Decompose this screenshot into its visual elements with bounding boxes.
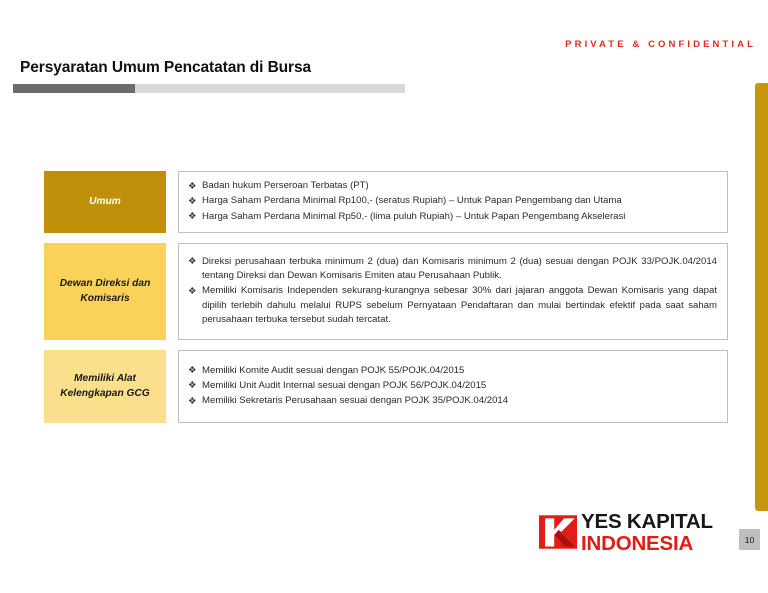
logo-wordmark: YES KAPITAL INDONESIA xyxy=(581,512,713,554)
table-row: Dewan Direksi dan Komisaris ❖ Direksi pe… xyxy=(44,243,728,340)
bullet-list: ❖ Memiliki Komite Audit sesuai dengan PO… xyxy=(188,364,717,409)
list-item-text: Memiliki Komite Audit sesuai dengan POJK… xyxy=(202,365,464,376)
table-row: Memiliki Alat Kelengkapan GCG ❖ Memiliki… xyxy=(44,350,728,423)
row-body-memiliki-alat-kelengkapan-gcg: ❖ Memiliki Komite Audit sesuai dengan PO… xyxy=(178,350,728,423)
row-body-dewan-direksi-dan-komisaris: ❖ Direksi perusahaan terbuka minimum 2 (… xyxy=(178,243,728,340)
diamond-bullet-icon: ❖ xyxy=(188,284,196,298)
diamond-bullet-icon: ❖ xyxy=(188,394,196,408)
list-item: ❖ Memiliki Komite Audit sesuai dengan PO… xyxy=(188,364,717,379)
page-title: Persyaratan Umum Pencatatan di Bursa xyxy=(20,59,311,77)
row-label-dewan-direksi-dan-komisaris: Dewan Direksi dan Komisaris xyxy=(44,243,166,340)
diamond-bullet-icon: ❖ xyxy=(188,378,196,392)
page-number: 10 xyxy=(739,529,760,550)
diamond-bullet-icon: ❖ xyxy=(188,194,196,208)
logo-line-1: YES KAPITAL xyxy=(581,512,713,533)
yes-kapital-k-mark-icon xyxy=(539,513,577,551)
list-item: ❖ Badan hukum Perseroan Terbatas (PT) xyxy=(188,179,717,194)
list-item: ❖ Memiliki Komisaris Independen sekurang… xyxy=(188,284,717,328)
list-item: ❖ Harga Saham Perdana Minimal Rp50,- (li… xyxy=(188,210,717,225)
requirements-table: Umum ❖ Badan hukum Perseroan Terbatas (P… xyxy=(44,171,728,433)
company-logo: YES KAPITAL INDONESIA xyxy=(539,511,714,553)
list-item-text: Memiliki Unit Audit Internal sesuai deng… xyxy=(202,380,486,391)
list-item-text: Memiliki Sekretaris Perusahaan sesuai de… xyxy=(202,395,508,406)
title-progress-fill xyxy=(13,84,135,93)
bullet-list: ❖ Direksi perusahaan terbuka minimum 2 (… xyxy=(188,255,717,329)
list-item-text: Direksi perusahaan terbuka minimum 2 (du… xyxy=(202,256,717,282)
bullet-list: ❖ Badan hukum Perseroan Terbatas (PT) ❖ … xyxy=(188,179,717,224)
list-item-text: Harga Saham Perdana Minimal Rp50,- (lima… xyxy=(202,211,625,222)
list-item-text: Memiliki Komisaris Independen sekurang-k… xyxy=(202,285,717,325)
list-item: ❖ Memiliki Sekretaris Perusahaan sesuai … xyxy=(188,394,717,409)
list-item: ❖ Harga Saham Perdana Minimal Rp100,- (s… xyxy=(188,194,717,209)
diamond-bullet-icon: ❖ xyxy=(188,363,196,377)
diamond-bullet-icon: ❖ xyxy=(188,179,196,193)
list-item: ❖ Memiliki Unit Audit Internal sesuai de… xyxy=(188,379,717,394)
list-item-text: Harga Saham Perdana Minimal Rp100,- (ser… xyxy=(202,195,622,206)
logo-line-2: INDONESIA xyxy=(581,534,713,555)
right-accent-bar xyxy=(755,83,768,511)
diamond-bullet-icon: ❖ xyxy=(188,209,196,223)
title-progress-track xyxy=(13,84,405,93)
row-body-umum: ❖ Badan hukum Perseroan Terbatas (PT) ❖ … xyxy=(178,171,728,233)
list-item: ❖ Direksi perusahaan terbuka minimum 2 (… xyxy=(188,255,717,284)
confidential-notice: PRIVATE & CONFIDENTIAL xyxy=(565,39,756,50)
list-item-text: Badan hukum Perseroan Terbatas (PT) xyxy=(202,180,369,191)
row-label-memiliki-alat-kelengkapan-gcg: Memiliki Alat Kelengkapan GCG xyxy=(44,350,166,423)
slide-canvas: PRIVATE & CONFIDENTIAL Persyaratan Umum … xyxy=(0,0,768,593)
row-label-umum: Umum xyxy=(44,171,166,233)
table-row: Umum ❖ Badan hukum Perseroan Terbatas (P… xyxy=(44,171,728,233)
diamond-bullet-icon: ❖ xyxy=(188,254,196,268)
